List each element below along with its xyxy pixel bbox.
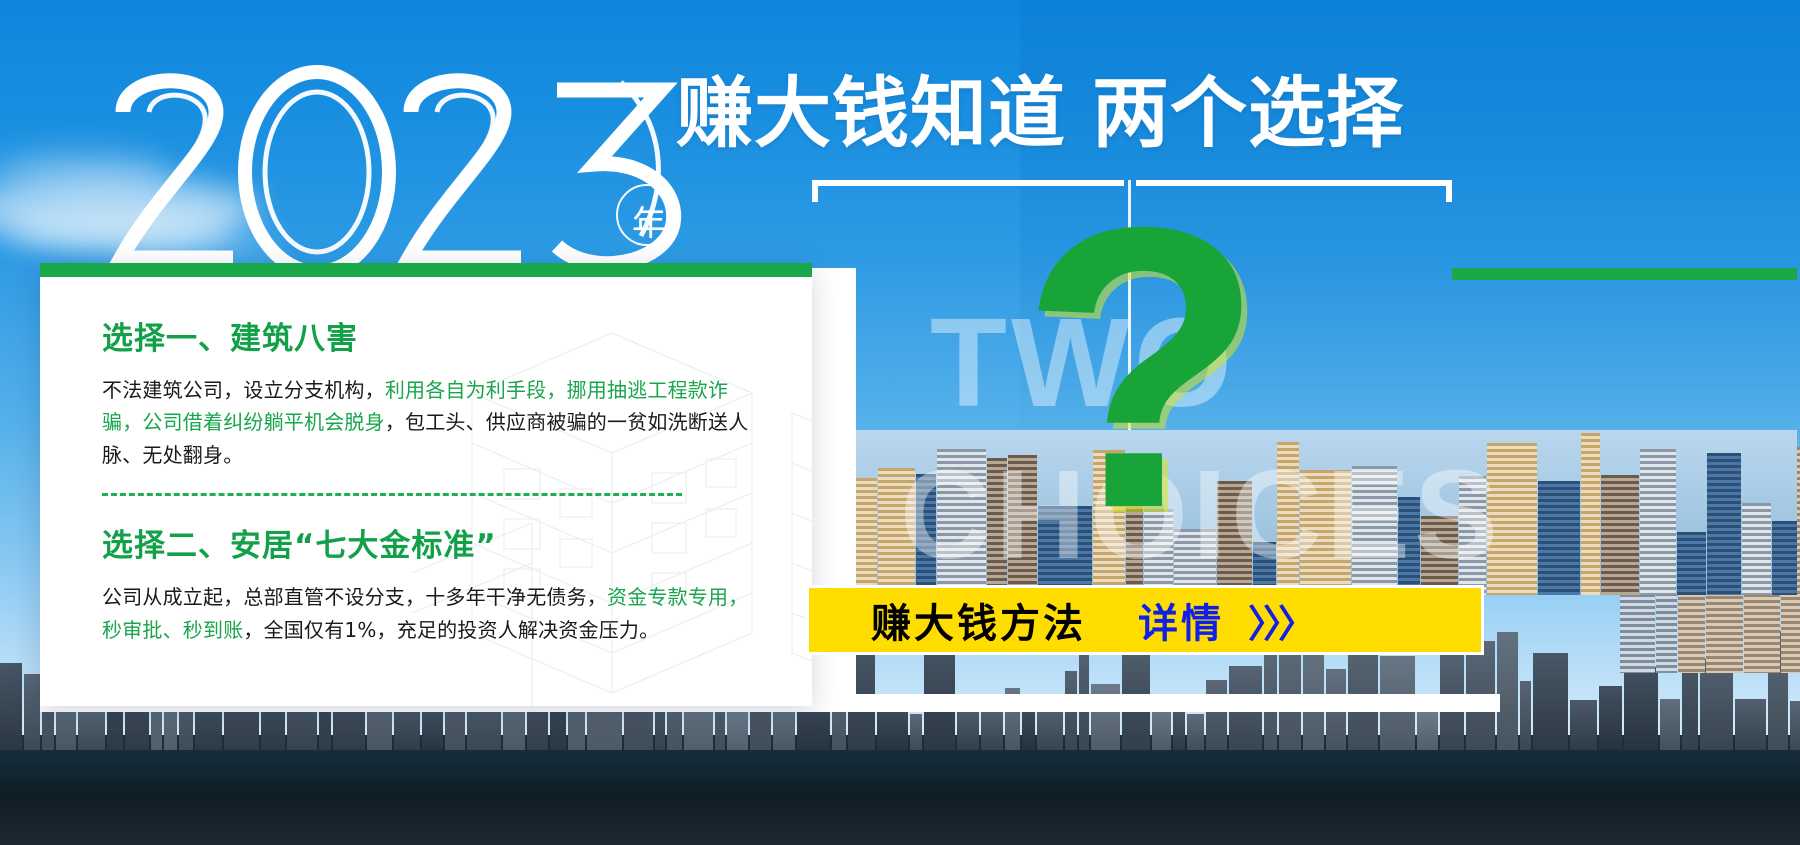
chevron-right-icon: 〉〉〉	[1248, 593, 1312, 648]
section-two-paragraph: 公司从成立起，总部直管不设分支，十多年干净无债务，资金专款专用，秒审批、秒到账，…	[102, 581, 764, 646]
text-run: 公司从成立起，总部直管不设分支，十多年干净无债务，	[102, 585, 607, 609]
headline-tick-right	[1446, 180, 1452, 202]
text-run: ，全国仅有1%，充足的投资人解决资金压力。	[243, 618, 659, 642]
page-title: 赚大钱知道两个选择	[676, 76, 1404, 153]
card-section-two: 选择二、安居“七大金标准” 公司从成立起，总部直管不设分支，十多年干净无债务，资…	[102, 520, 764, 646]
cta-detail-link[interactable]: 详情	[1138, 591, 1224, 649]
question-mark-icon: ?	[1020, 212, 1264, 524]
text-run: 不法建筑公司，设立分支机构，	[102, 378, 385, 402]
cloud-decoration	[120, 230, 280, 264]
section-one-paragraph: 不法建筑公司，设立分支机构，利用各自为利手段，挪用抽逃工程款诈骗，公司借着纠纷躺…	[102, 374, 764, 471]
headline-part-1: 赚大钱知道	[676, 70, 1066, 159]
poster-canvas: 年 赚大钱知道两个选择 TWO CHOICES ?	[0, 0, 1800, 845]
year-unit-label: 年	[632, 196, 666, 245]
section-one-title: 选择一、建筑八害	[102, 313, 764, 358]
cta-main-label: 赚大钱方法	[871, 591, 1086, 649]
cta-banner[interactable]: 赚大钱方法 详情 〉〉〉	[806, 585, 1484, 655]
water-reflection	[0, 735, 1800, 845]
headline-tick-left	[812, 180, 818, 202]
content-card: 选择一、建筑八害 不法建筑公司，设立分支机构，利用各自为利手段，挪用抽逃工程款诈…	[40, 263, 812, 706]
section-two-title: 选择二、安居“七大金标准”	[102, 520, 764, 565]
card-section-one: 选择一、建筑八害 不法建筑公司，设立分支机构，利用各自为利手段，挪用抽逃工程款诈…	[102, 313, 764, 471]
green-accent-bar-right	[1452, 268, 1797, 280]
section-divider	[102, 493, 682, 496]
